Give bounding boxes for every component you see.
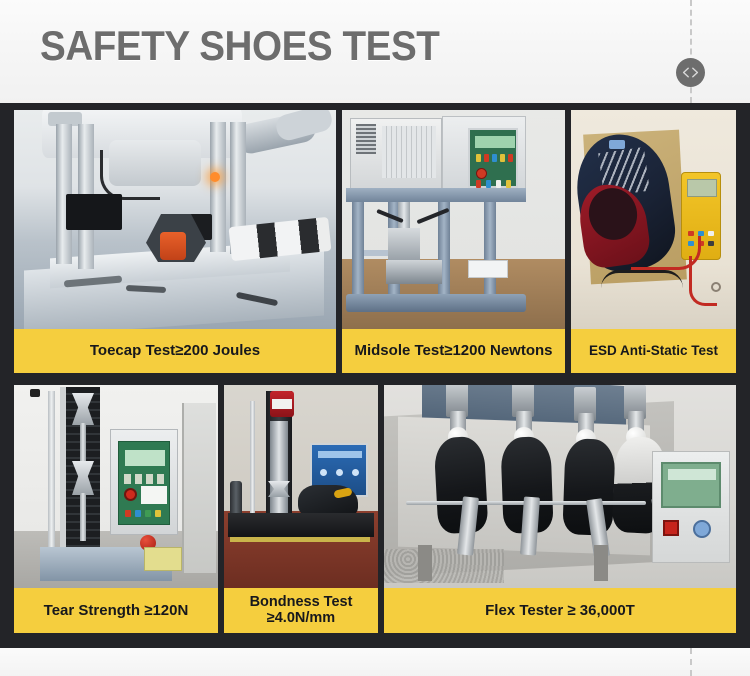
test-card-midsole[interactable]: Midsole Test≥1200 Newtons — [342, 110, 565, 373]
test-card-esd[interactable]: ESD Anti-Static Test — [571, 110, 736, 373]
flex-tester-photo — [384, 385, 736, 588]
test-card-tear-strength[interactable]: Tear Strength ≥120N — [14, 385, 218, 633]
tear-strength-tester-photo — [14, 385, 218, 588]
safety-shoes-test-page: SAFETY SHOES TEST — [0, 0, 750, 676]
page-footer — [0, 648, 750, 676]
test-card-flex-tester[interactable]: Flex Tester ≥ 36,000T — [384, 385, 736, 633]
page-title: SAFETY SHOES TEST — [40, 22, 439, 70]
test-card-caption: Toecap Test≥200 Joules — [14, 329, 336, 373]
test-card-caption: Tear Strength ≥120N — [14, 588, 218, 633]
test-card-bondness[interactable]: Bondness Test ≥4.0N/mm — [224, 385, 378, 633]
gallery-row-2: Tear Strength ≥120N — [14, 385, 736, 633]
test-card-caption: ESD Anti-Static Test — [571, 329, 736, 373]
page-header: SAFETY SHOES TEST — [0, 0, 750, 103]
toecap-impact-tester-photo — [14, 110, 336, 329]
code-brackets-icon[interactable] — [676, 58, 705, 87]
esd-anti-static-test-photo — [571, 110, 736, 329]
test-card-caption: Bondness Test ≥4.0N/mm — [224, 588, 378, 633]
test-card-caption-line2: ≥4.0N/mm — [250, 611, 353, 626]
gallery-row-1: Toecap Test≥200 Joules — [14, 110, 736, 373]
test-card-toecap[interactable]: Toecap Test≥200 Joules — [14, 110, 336, 373]
header-dashed-divider — [690, 0, 692, 103]
footer-dashed-divider — [690, 648, 692, 676]
test-gallery-board: Toecap Test≥200 Joules — [0, 103, 750, 648]
midsole-penetration-tester-photo — [342, 110, 565, 329]
test-card-caption: Midsole Test≥1200 Newtons — [342, 329, 565, 373]
bondness-peel-tester-photo — [224, 385, 378, 588]
test-card-caption: Flex Tester ≥ 36,000T — [384, 588, 736, 633]
test-card-caption-line1: Bondness Test — [250, 595, 353, 610]
